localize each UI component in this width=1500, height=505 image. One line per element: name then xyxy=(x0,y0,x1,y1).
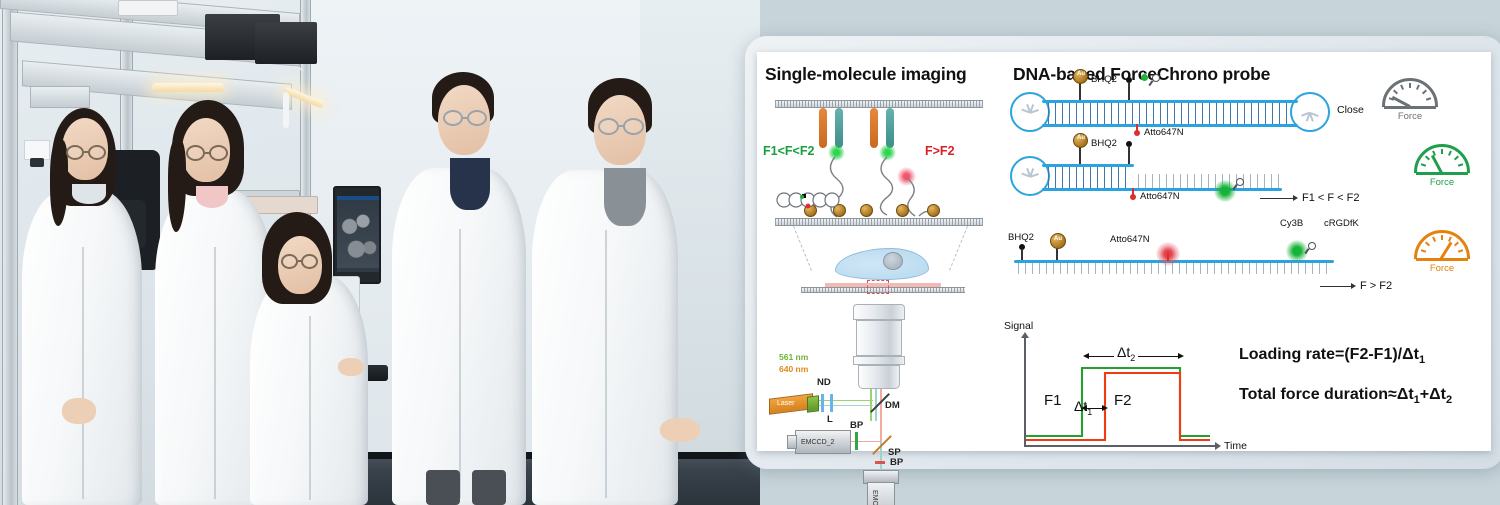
gold-nanoparticle-probe-1: Au xyxy=(1073,69,1088,84)
equipment-box-b xyxy=(255,22,317,64)
bhq2-label-2: BHQ2 xyxy=(1091,138,1117,149)
person-5-shirt xyxy=(604,168,646,226)
probe-basepairs-1 xyxy=(1048,103,1292,124)
person-3-glasses-bridge xyxy=(298,260,302,262)
roi-box xyxy=(867,280,889,294)
gold-nanoparticle-5 xyxy=(927,204,940,217)
nd-filter-2 xyxy=(830,394,833,412)
objective-bottom xyxy=(858,365,900,389)
cy3b-dot-1 xyxy=(1141,74,1148,81)
cable-loop-2 xyxy=(222,66,248,88)
person-1-labcoat xyxy=(22,190,142,505)
person-4-shirt xyxy=(450,158,490,210)
illumination-cone-right xyxy=(949,226,968,271)
person-1-glasses-right xyxy=(88,145,106,160)
condition-arrow-line-3 xyxy=(1320,286,1352,287)
person-1-glasses-left xyxy=(66,145,84,160)
atto647n-label-3: Atto647N xyxy=(1110,234,1150,245)
emccd-2-label: EMCCD_2 xyxy=(801,439,834,446)
objective-collar xyxy=(853,356,905,365)
cell-nucleus xyxy=(883,252,903,270)
dm-label: DM xyxy=(885,400,900,411)
nd-filter-1 xyxy=(821,394,824,412)
bhq2-linker-2 xyxy=(1128,146,1130,164)
person-2-glasses-bridge xyxy=(205,152,210,154)
laser-output xyxy=(807,395,819,412)
cable-loop-3 xyxy=(278,66,308,92)
bandpass-filter-lower xyxy=(875,461,885,464)
nd-label: ND xyxy=(817,377,831,388)
power-plug xyxy=(30,158,44,167)
person-5-labcoat xyxy=(532,170,678,505)
bp-upper-label: BP xyxy=(850,420,863,431)
wavelength-561-label: 561 nm xyxy=(779,352,808,362)
cy3b-emission-2 xyxy=(1214,180,1236,202)
hanging-connector xyxy=(283,92,289,128)
bhq2-label-1: BHQ2 xyxy=(1091,74,1117,85)
f1-plateau-label: F1 xyxy=(1044,392,1062,409)
wavelength-640-label: 640 nm xyxy=(779,364,808,374)
power-outlet xyxy=(24,140,50,160)
loading-rate-equation: Loading rate=(F2-F1)/Δt1 xyxy=(1239,346,1425,366)
person-1-hands xyxy=(62,398,96,424)
bottom-substrate xyxy=(775,218,983,226)
person-3-hand xyxy=(338,358,364,376)
crgdfk-label-3: cRGDfK xyxy=(1324,218,1359,229)
person-3-glasses-left xyxy=(281,254,298,269)
cy3b-label-3: Cy3B xyxy=(1280,218,1303,229)
person-5-glasses-left xyxy=(598,118,619,135)
gauge-label-partial: Force xyxy=(1414,177,1470,188)
person-4-glasses-bridge xyxy=(463,117,468,119)
bandpass-filter-upper xyxy=(855,432,858,450)
gold-nanoparticle-4 xyxy=(896,204,909,217)
person-2-collar xyxy=(196,186,228,208)
emccd-2-mount xyxy=(787,435,797,449)
condition-arrow-head-3 xyxy=(1351,283,1356,289)
bp-lower-label: BP xyxy=(890,457,903,468)
atto647n-label-1: Atto647N xyxy=(1144,127,1184,138)
f2-plateau-label: F2 xyxy=(1114,392,1132,409)
objective-barrel xyxy=(856,320,902,356)
bhq2-label-3: BHQ2 xyxy=(1008,232,1034,243)
bhq2-linker-3 xyxy=(1021,249,1023,260)
monitor-screen xyxy=(337,196,379,272)
condition-arrow-line-2 xyxy=(1260,198,1294,199)
figure-root: Single-molecule imaging DNA-based ForceC… xyxy=(0,0,1500,505)
person-3-glasses-right xyxy=(301,254,318,269)
monitor-taskbar xyxy=(337,268,379,272)
laser-label: Laser xyxy=(777,400,795,407)
gold-nanoparticle-3 xyxy=(860,204,873,217)
rack-post-left xyxy=(2,0,18,505)
atto647n-label-2: Atto647N xyxy=(1140,191,1180,202)
person-5-glasses-bridge xyxy=(619,125,624,127)
person-1-glasses-bridge xyxy=(84,151,89,153)
condition-label-partial: F1 < F < F2 xyxy=(1302,192,1359,204)
equipment-box-c xyxy=(118,0,178,16)
person-3-labcoat xyxy=(250,275,368,505)
ligand-stem-1 xyxy=(1148,80,1153,86)
lab-team-photo xyxy=(0,0,760,505)
person-4-glasses-right xyxy=(467,110,487,126)
dt1-label: Δt1 xyxy=(1074,398,1092,417)
emccd-1-label: EMCCD_1 xyxy=(871,490,878,505)
person-4-glasses-left xyxy=(443,110,463,126)
person-5-hand xyxy=(660,418,700,442)
dt2-arrow-left xyxy=(1083,353,1089,359)
beam-red-vertical xyxy=(880,389,882,441)
monitor-titlebar xyxy=(337,196,379,200)
person-2-glasses-left xyxy=(186,145,205,161)
person-1-collar xyxy=(72,184,106,204)
cable-loop-1 xyxy=(160,66,186,88)
atto647n-linker-1 xyxy=(1136,124,1138,132)
person-5-glasses-right xyxy=(623,118,644,135)
close-state-label: Close xyxy=(1337,104,1364,116)
dt2-arrow-right xyxy=(1178,353,1184,359)
probe-ssdna-2 xyxy=(1138,174,1280,188)
person-4-leg-right xyxy=(472,470,506,505)
force-gauge-partial: Force xyxy=(1414,144,1470,178)
bhq2-linker-1 xyxy=(1128,82,1130,100)
lens-label: L xyxy=(827,414,833,425)
person-4-labcoat xyxy=(392,168,526,505)
illumination-cone-left xyxy=(793,226,812,271)
computer-monitor xyxy=(333,186,381,284)
adherent-cell xyxy=(835,248,929,280)
total-duration-equation: Total force duration≈Δt1+Δt2 xyxy=(1239,386,1452,406)
dna-coil-left xyxy=(775,188,855,214)
single-molecule-imaging-panel: F1<F<F2 F>F2 xyxy=(757,52,1002,451)
figure-card: Single-molecule imaging DNA-based ForceC… xyxy=(745,36,1500,469)
gauge-label-closed: Force xyxy=(1382,111,1438,122)
rack-shelf-block xyxy=(30,86,90,108)
gauge-label-extended: Force xyxy=(1414,263,1470,274)
dt1-arrow-right xyxy=(1102,405,1108,411)
atto647n-linker-3 xyxy=(1167,252,1169,261)
person-2-glasses-right xyxy=(209,145,228,161)
figure-card-inner: Single-molecule imaging DNA-based ForceC… xyxy=(757,52,1491,451)
condition-label-extended: F > F2 xyxy=(1360,280,1392,292)
signal-vs-time-chart: Signal Time F1 F2 Δt1 xyxy=(1002,320,1252,470)
person-4-leg-left xyxy=(426,470,460,505)
atto647n-linker-2 xyxy=(1132,188,1134,196)
force-gauge-extended: Force xyxy=(1414,230,1470,264)
force-gauge-closed: Force xyxy=(1382,78,1438,112)
dt2-label: Δt2 xyxy=(1114,344,1138,363)
gold-nanoparticle-probe-2: Au xyxy=(1073,133,1088,148)
probe-basepairs-2 xyxy=(1048,167,1132,188)
gold-nanoparticle-probe-3: Au xyxy=(1050,233,1066,249)
probe-ssdna-3 xyxy=(1018,263,1330,274)
objective-top xyxy=(853,304,905,320)
condition-arrow-head-2 xyxy=(1293,195,1298,201)
